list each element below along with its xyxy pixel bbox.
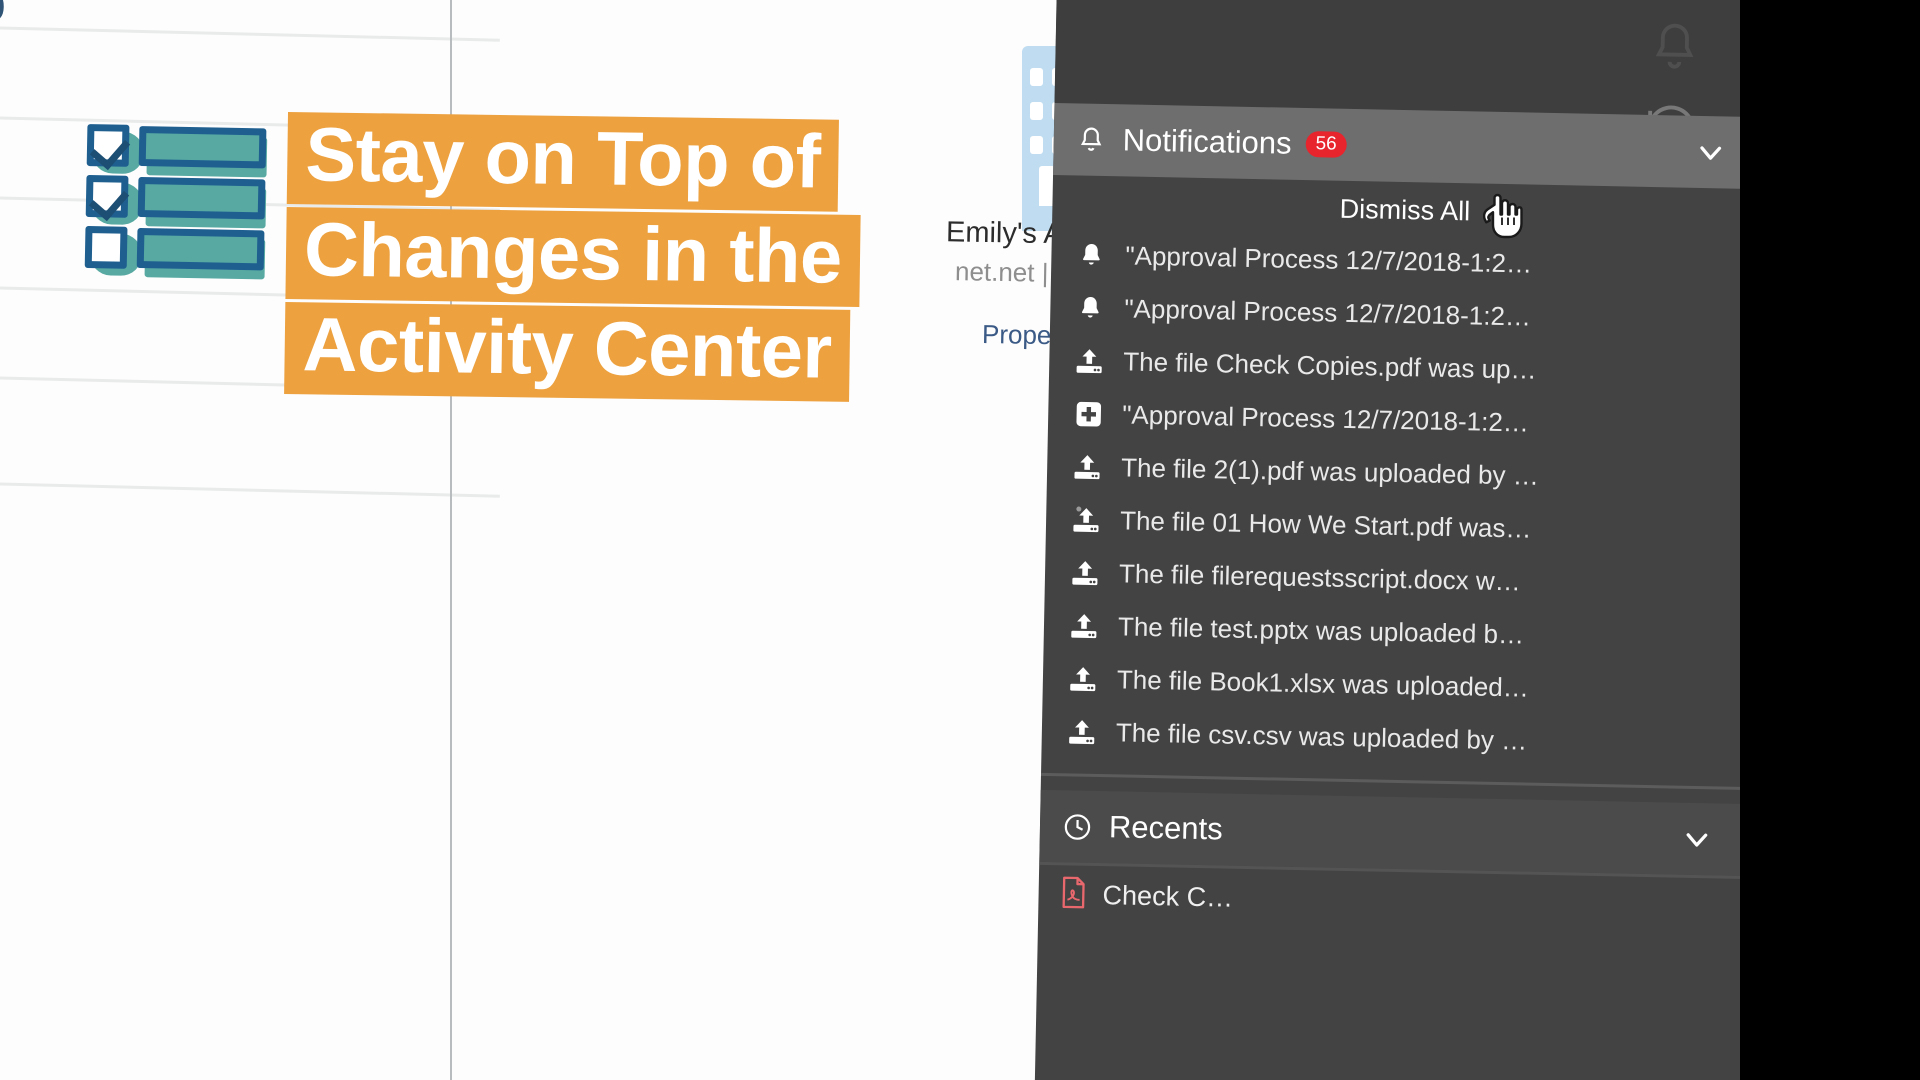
list-item[interactable]: Check C… [1038, 864, 1744, 938]
checkbox-checked-icon [86, 175, 129, 218]
checklist-row [85, 226, 86, 276]
notifications-badge: 56 [1305, 131, 1347, 158]
notification-text: The file Book1.xlsx was uploaded … [1117, 664, 1536, 703]
chevron-down-icon[interactable] [1674, 825, 1719, 861]
recents-title: Recents [1109, 809, 1223, 847]
checklist-row [86, 175, 87, 225]
activity-center-panel: Notifications 56 Dismiss All "Approval P… [1034, 0, 1762, 1080]
headline-line-1: Stay on Top of [287, 112, 839, 212]
notification-text: The file 2(1).pdf was uploaded by … [1121, 452, 1539, 491]
headline-line-2: Changes in the [285, 207, 860, 307]
pdf-file-icon [1058, 875, 1089, 915]
bell-watermark-icon [1645, 18, 1704, 82]
screenshot-root: ) [0, 0, 1920, 1080]
notification-text: The file Check Copies.pdf was upl… [1123, 346, 1542, 385]
checkbox-checked-icon [87, 124, 130, 167]
checkbox-unchecked-icon [85, 226, 128, 269]
headline-line-3: Activity Center [284, 302, 850, 402]
dismiss-all-button[interactable]: Dismiss All [1339, 193, 1470, 227]
upload-icon [1064, 504, 1109, 537]
notification-text: The file 01 How We Start.pdf was … [1120, 505, 1539, 544]
notification-text: The file test.pptx was uploaded b… [1118, 611, 1525, 650]
upload-icon [1062, 610, 1107, 643]
chevron-down-icon[interactable] [1688, 138, 1733, 174]
upload-icon [1065, 451, 1110, 484]
recent-file-name: Check C… [1102, 880, 1233, 914]
page-title: Stay on Top of Changes in the Activity C… [284, 112, 862, 405]
notification-text: "Approval Process 12/7/2018-1:24… [1125, 240, 1544, 279]
checklist-row [87, 124, 88, 174]
corner-text-fragment: ) [0, 0, 6, 24]
upload-icon [1061, 663, 1106, 696]
pointing-hand-cursor [1483, 192, 1527, 240]
building-window [1030, 102, 1043, 120]
checklist-bar [137, 228, 265, 270]
bell-icon [1075, 124, 1107, 156]
section-divider [1041, 773, 1746, 790]
upload-icon [1060, 716, 1105, 749]
upload-icon [1063, 557, 1108, 590]
building-window [1030, 136, 1043, 154]
notification-text: "Approval Process 12/7/2018-1:24… [1122, 399, 1541, 438]
upload-icon [1067, 345, 1112, 378]
notifications-title: Notifications [1122, 122, 1292, 161]
screen-gutter [1740, 0, 1920, 1080]
plus-square-icon [1066, 398, 1111, 430]
notification-list: "Approval Process 12/7/2018-1:24…"Approv… [1041, 228, 1756, 772]
notification-text: The file csv.csv was uploaded by … [1116, 717, 1528, 756]
notification-text: The file filerequestsscript.docx w… [1119, 558, 1521, 597]
guide-line [0, 26, 500, 42]
notification-text: "Approval Process 12/7/2018-1:24… [1124, 293, 1543, 332]
bell-icon [1069, 240, 1114, 271]
list-overflow-dot [1076, 506, 1081, 511]
guide-line [0, 482, 500, 498]
building-window [1030, 68, 1043, 86]
bell-icon [1068, 293, 1113, 324]
checklist-bar [139, 126, 267, 168]
clock-icon [1062, 811, 1094, 843]
checklist-bar [138, 177, 266, 219]
